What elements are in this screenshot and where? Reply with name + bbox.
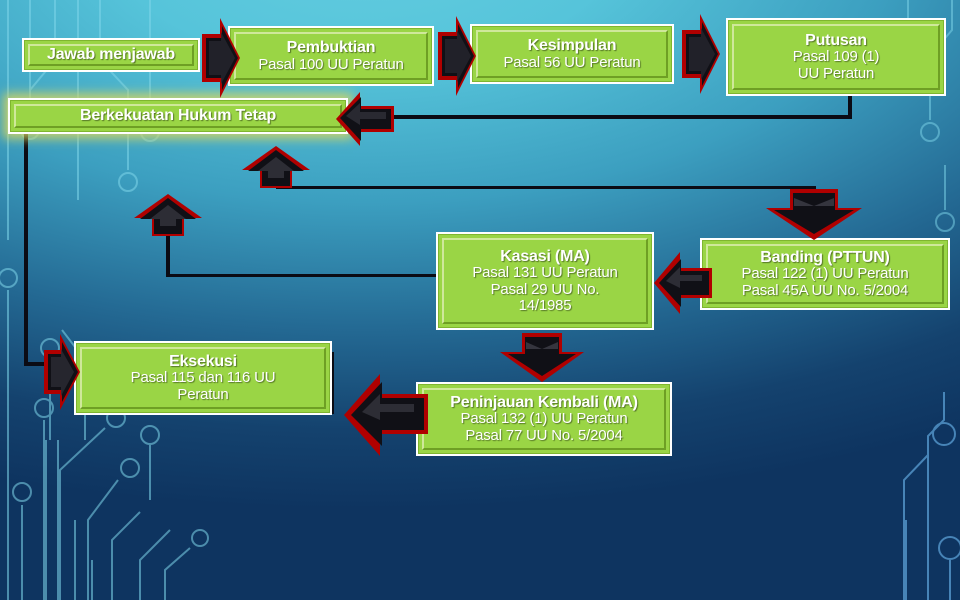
node-line-1: Pasal 115 dan 116 UU — [131, 370, 276, 386]
node-text: Eksekusi Pasal 115 dan 116 UU Peratun — [125, 353, 282, 403]
node-banding[interactable]: Banding (PTTUN) Pasal 122 (1) UU Peratun… — [700, 238, 950, 310]
node-peninjauan-kembali[interactable]: Peninjauan Kembali (MA) Pasal 132 (1) UU… — [416, 382, 672, 456]
arrow-bht-to-eksekusi — [38, 330, 82, 414]
node-line-2: Pasal 29 UU No. — [472, 282, 617, 298]
node-line-2: UU Peratun — [793, 66, 880, 82]
node-line-1: Pasal 56 UU Peratun — [503, 55, 640, 71]
arrow-banding-to-kasasi — [652, 248, 714, 318]
connector-kasasi-horizontal — [166, 274, 448, 277]
connector-banding-branch-horizontal — [276, 186, 816, 189]
node-title: Jawab menjawab — [47, 46, 175, 63]
node-line-1: Pasal 132 (1) UU Peratun — [450, 411, 637, 427]
node-kasasi[interactable]: Kasasi (MA) Pasal 131 UU Peratun Pasal 2… — [436, 232, 654, 330]
node-putusan[interactable]: Putusan Pasal 109 (1) UU Peratun — [726, 18, 946, 96]
arrow-putusan-to-bht — [334, 88, 396, 150]
node-line-1: Pasal 109 (1) — [793, 49, 880, 65]
node-line-1: Pasal 100 UU Peratun — [258, 57, 403, 73]
arrow-putusan-to-banding — [762, 186, 866, 242]
arrow-pk-to-eksekusi — [342, 370, 430, 460]
node-line-2: Pasal 45A UU No. 5/2004 — [742, 283, 909, 299]
node-text: Jawab menjawab — [41, 46, 181, 63]
node-title: Kesimpulan — [503, 37, 640, 54]
node-title: Peninjauan Kembali (MA) — [450, 394, 637, 411]
node-title: Berkekuatan Hukum Tetap — [80, 107, 276, 124]
node-text: Pembuktian Pasal 100 UU Peratun — [252, 39, 409, 72]
node-text: Kasasi (MA) Pasal 131 UU Peratun Pasal 2… — [466, 248, 623, 314]
node-title: Eksekusi — [131, 353, 276, 370]
node-title: Kasasi (MA) — [472, 248, 617, 265]
node-line-1: Pasal 122 (1) UU Peratun — [742, 266, 909, 282]
connector-bht-vertical — [24, 133, 28, 365]
node-line-1: Pasal 131 UU Peratun — [472, 265, 617, 281]
connector-putusan-to-bht-horizontal — [390, 115, 852, 119]
arrow-pembuktian-to-kesimpulan — [432, 10, 478, 102]
node-pembuktian[interactable]: Pembuktian Pasal 100 UU Peratun — [228, 26, 434, 86]
node-text: Putusan Pasal 109 (1) UU Peratun — [787, 32, 886, 82]
arrow-jawab-to-pembuktian — [196, 12, 242, 104]
slide-canvas: Jawab menjawab Pembuktian Pasal 100 UU P… — [0, 0, 960, 600]
node-jawab-menjawab[interactable]: Jawab menjawab — [22, 38, 200, 72]
node-text: Kesimpulan Pasal 56 UU Peratun — [497, 37, 646, 70]
node-kesimpulan[interactable]: Kesimpulan Pasal 56 UU Peratun — [470, 24, 674, 84]
arrow-kasasi-to-pk — [496, 330, 588, 384]
node-line-2: Peratun — [131, 387, 276, 403]
node-line-2: Pasal 77 UU No. 5/2004 — [450, 428, 637, 444]
arrow-kesimpulan-to-putusan — [676, 8, 722, 100]
node-eksekusi[interactable]: Eksekusi Pasal 115 dan 116 UU Peratun — [74, 341, 332, 415]
node-text: Berkekuatan Hukum Tetap — [74, 107, 282, 124]
node-title: Pembuktian — [258, 39, 403, 56]
arrow-banding-up-to-bht — [240, 144, 312, 192]
node-text: Banding (PTTUN) Pasal 122 (1) UU Peratun… — [736, 249, 915, 299]
arrow-kasasi-up-to-bht — [132, 192, 204, 240]
node-title: Banding (PTTUN) — [742, 249, 909, 266]
node-text: Peninjauan Kembali (MA) Pasal 132 (1) UU… — [444, 394, 643, 444]
node-line-3: 14/1985 — [472, 298, 617, 314]
node-title: Putusan — [793, 32, 880, 49]
node-berkekuatan-hukum-tetap[interactable]: Berkekuatan Hukum Tetap — [8, 98, 348, 134]
